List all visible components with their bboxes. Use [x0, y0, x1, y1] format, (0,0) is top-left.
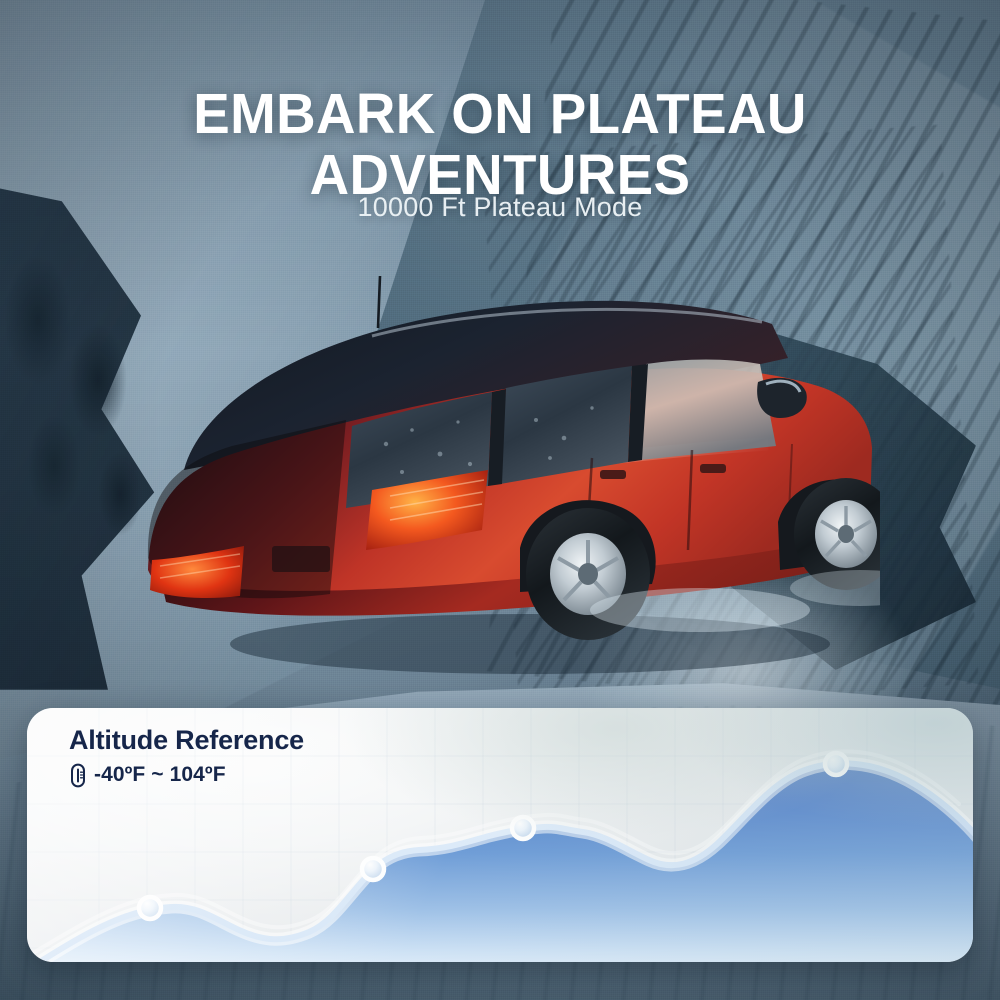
temperature-range-row: -40ºF ~ 104ºF: [69, 763, 304, 788]
altitude-reference-card: 3280ft 6202ft 7343ft 10000ft Altitude Re…: [27, 708, 973, 962]
thermometer-icon: [69, 763, 87, 788]
red-suv-vehicle: [140, 258, 880, 678]
hero-headline: EMBARK ON PLATEAU ADVENTURES: [20, 84, 980, 206]
promo-banner: EMBARK ON PLATEAU ADVENTURES 10000 Ft Pl…: [0, 0, 1000, 1000]
card-header: Altitude Reference -40ºF ~ 104ºF: [69, 726, 304, 788]
card-title: Altitude Reference: [69, 726, 304, 756]
headline-line-1: EMBARK ON PLATEAU: [193, 82, 807, 146]
temperature-range-value: -40ºF ~ 104ºF: [94, 763, 226, 787]
hero-subheadline: 10000 Ft Plateau Mode: [0, 192, 1000, 223]
